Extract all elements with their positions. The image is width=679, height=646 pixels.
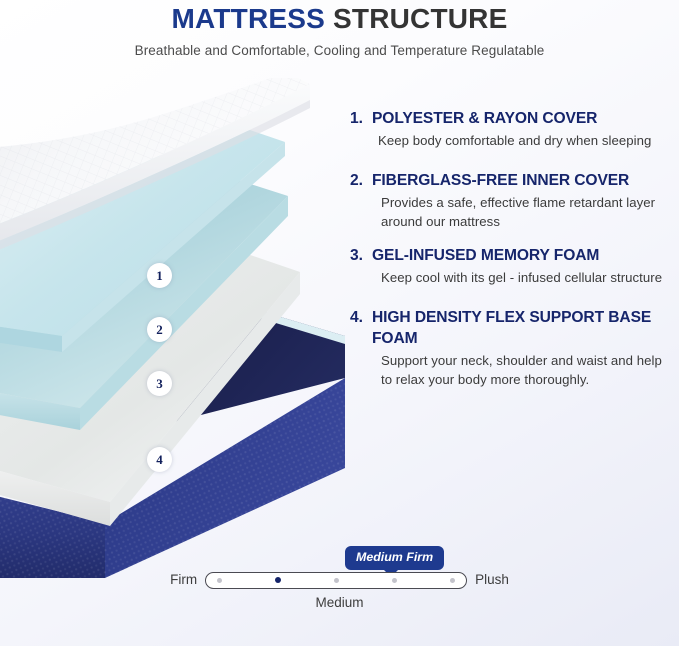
feature-item-1: 1. POLYESTER & RAYON COVER Keep body com… (350, 108, 670, 150)
feature-item-3: 3. GEL-INFUSED MEMORY FOAM Keep cool wit… (350, 245, 670, 287)
firmness-step-4[interactable] (392, 578, 397, 583)
feature-number-3: 3. (350, 245, 372, 266)
firmness-step-1[interactable] (217, 578, 222, 583)
feature-heading-3: 3. GEL-INFUSED MEMORY FOAM (350, 245, 670, 266)
firmness-step-3[interactable] (334, 578, 339, 583)
feature-title-3: GEL-INFUSED MEMORY FOAM (372, 245, 670, 266)
feature-heading-4: 4. HIGH DENSITY FLEX SUPPORT BASE FOAM (350, 307, 670, 349)
feature-heading-1: 1. POLYESTER & RAYON COVER (350, 108, 670, 129)
firmness-scale: Medium Firm Firm Plush Medium (0, 544, 679, 624)
layer-badge-3: 3 (147, 371, 172, 396)
feature-number-1: 1. (350, 108, 372, 129)
page-title-highlight: MATTRESS (172, 3, 326, 34)
feature-description-3: Keep cool with its gel - infused cellula… (381, 268, 670, 287)
firmness-label-plush: Plush (475, 571, 509, 589)
firmness-slider-row: Firm Plush (0, 571, 679, 589)
page-subtitle: Breathable and Comfortable, Cooling and … (0, 42, 679, 60)
feature-description-4: Support your neck, shoulder and waist an… (381, 351, 670, 389)
feature-list: 1. POLYESTER & RAYON COVER Keep body com… (350, 108, 670, 403)
feature-number-2: 2. (350, 170, 372, 191)
firmness-slider-track[interactable] (205, 572, 467, 589)
feature-description-2: Provides a safe, effective flame retarda… (381, 193, 670, 231)
mattress-illustration: 1 2 3 4 (0, 78, 345, 578)
feature-item-2: 2. FIBERGLASS-FREE INNER COVER Provides … (350, 170, 670, 231)
feature-title-4: HIGH DENSITY FLEX SUPPORT BASE FOAM (372, 307, 670, 349)
firmness-step-2[interactable] (275, 577, 281, 583)
layer-badge-2: 2 (147, 317, 172, 342)
page-title-rest: STRUCTURE (325, 3, 507, 34)
feature-item-4: 4. HIGH DENSITY FLEX SUPPORT BASE FOAM S… (350, 307, 670, 389)
layer-badge-1: 1 (147, 263, 172, 288)
firmness-step-5[interactable] (450, 578, 455, 583)
mattress-layers-svg (0, 78, 345, 578)
header: MATTRESS STRUCTURE Breathable and Comfor… (0, 0, 679, 60)
layer-badge-4: 4 (147, 447, 172, 472)
page-title: MATTRESS STRUCTURE (0, 2, 679, 36)
firmness-selected-badge: Medium Firm (345, 546, 444, 570)
feature-heading-2: 2. FIBERGLASS-FREE INNER COVER (350, 170, 670, 191)
feature-title-2: FIBERGLASS-FREE INNER COVER (372, 170, 670, 191)
feature-number-4: 4. (350, 307, 372, 328)
firmness-label-medium: Medium (0, 594, 679, 612)
firmness-label-firm: Firm (170, 571, 197, 589)
mattress-structure-infographic: MATTRESS STRUCTURE Breathable and Comfor… (0, 0, 679, 646)
feature-title-1: POLYESTER & RAYON COVER (372, 108, 670, 129)
feature-description-1: Keep body comfortable and dry when sleep… (378, 131, 670, 150)
